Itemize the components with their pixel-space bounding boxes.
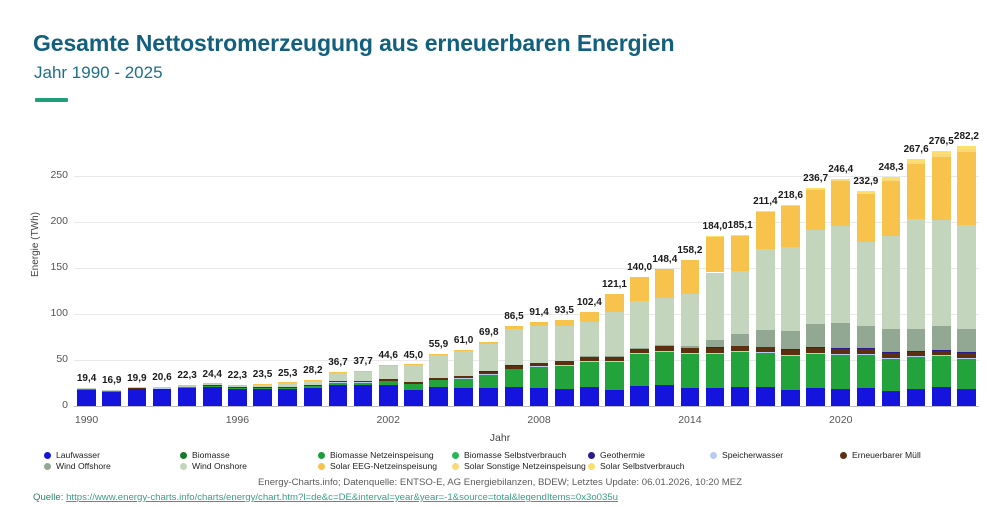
bar-segment — [304, 380, 323, 385]
bar-segment — [253, 384, 272, 385]
bar-segment — [153, 389, 172, 406]
bar-segment — [806, 324, 825, 347]
bar-segment — [655, 269, 674, 297]
bar-segment — [630, 354, 649, 386]
bar-segment — [429, 354, 448, 355]
bar-segment — [454, 388, 473, 406]
chart-bar[interactable] — [857, 191, 876, 406]
bar-segment — [882, 358, 901, 359]
x-axis-tick: 2020 — [821, 414, 861, 426]
bar-segment — [555, 389, 574, 406]
bar-segment — [253, 387, 272, 388]
bar-segment — [630, 277, 649, 301]
bar-segment — [781, 355, 800, 389]
bar-segment — [756, 353, 775, 388]
bar-segment — [479, 375, 498, 388]
page-title: Gesamte Nettostromerzeugung aus erneuerb… — [33, 30, 674, 57]
bar-segment — [831, 355, 850, 389]
bar-segment — [681, 294, 700, 347]
chart-bar[interactable] — [429, 355, 448, 407]
legend-swatch-icon — [318, 463, 325, 470]
bar-segment — [203, 386, 222, 387]
bar-segment — [404, 364, 423, 365]
bar-segment — [857, 354, 876, 355]
bar-segment — [681, 353, 700, 354]
chart-bar[interactable] — [454, 350, 473, 406]
bar-segment — [957, 149, 976, 152]
bar-segment — [253, 388, 272, 389]
chart-bar[interactable] — [253, 384, 272, 406]
chart-bar[interactable] — [102, 390, 121, 406]
chart-bar[interactable] — [681, 260, 700, 406]
bar-value-label: 45,0 — [395, 350, 432, 361]
bar-segment — [731, 352, 750, 387]
bar-segment — [932, 387, 951, 406]
bar-segment — [907, 356, 926, 357]
legend-item[interactable]: Speicherwasser — [710, 450, 783, 460]
legend-item[interactable]: Solar EEG-Netzeinspeisung — [318, 461, 437, 471]
bar-segment — [907, 329, 926, 351]
bar-segment — [655, 351, 674, 352]
bar-segment — [278, 387, 297, 388]
bar-segment — [505, 329, 524, 365]
bar-segment — [153, 388, 172, 389]
bar-segment — [681, 354, 700, 388]
legend-swatch-icon — [588, 463, 595, 470]
bar-segment — [781, 206, 800, 247]
bar-segment — [957, 389, 976, 406]
legend-swatch-icon — [452, 452, 459, 459]
bar-segment — [102, 390, 121, 391]
bar-segment — [329, 372, 348, 373]
bar-segment — [756, 211, 775, 212]
bar-segment — [882, 181, 901, 236]
bar-segment — [655, 298, 674, 345]
bar-segment — [505, 365, 524, 368]
legend-item[interactable]: Biomasse Selbstverbrauch — [452, 450, 566, 460]
legend-item-label: Laufwasser — [56, 450, 100, 460]
bar-segment — [354, 371, 373, 372]
bar-segment — [580, 322, 599, 356]
chart-bar[interactable] — [555, 320, 574, 406]
bar-segment — [379, 365, 398, 379]
bar-segment — [454, 376, 473, 378]
bar-segment — [756, 347, 775, 352]
bar-segment — [605, 356, 624, 357]
bar-segment — [957, 152, 976, 224]
bar-segment — [102, 391, 121, 392]
bar-segment — [731, 236, 750, 271]
bar-segment — [932, 151, 951, 154]
bar-value-label: 121,1 — [596, 279, 633, 290]
bar-segment — [228, 385, 247, 386]
legend-item-label: Solar Selbstverbrauch — [600, 461, 685, 471]
x-axis-tick: 1990 — [67, 414, 107, 426]
bar-segment — [907, 159, 926, 162]
bar-segment — [857, 242, 876, 326]
bar-segment — [404, 390, 423, 406]
bar-segment — [655, 346, 674, 351]
bar-segment — [128, 387, 147, 388]
bar-segment — [630, 353, 649, 354]
bar-segment — [756, 387, 775, 406]
y-axis-tick: 0 — [32, 399, 68, 411]
bar-segment — [228, 389, 247, 406]
bar-segment — [957, 358, 976, 359]
bar-segment — [907, 357, 926, 388]
bar-segment — [932, 154, 951, 156]
bar-segment — [806, 388, 825, 406]
bar-segment — [354, 381, 373, 382]
source-label: Quelle: — [33, 492, 63, 503]
bar-segment — [781, 349, 800, 354]
bar-segment — [278, 382, 297, 383]
bar-segment — [304, 380, 323, 381]
chart-bar[interactable] — [831, 179, 850, 406]
chart-bar[interactable] — [731, 235, 750, 406]
bar-segment — [530, 363, 549, 367]
bar-value-label: 248,3 — [873, 162, 910, 173]
bar-segment — [932, 157, 951, 221]
chart-bar[interactable] — [479, 342, 498, 406]
chart-bar[interactable] — [505, 326, 524, 406]
x-axis-tick: 2008 — [519, 414, 559, 426]
bar-segment — [957, 146, 976, 149]
bar-segment — [555, 326, 574, 361]
bar-segment — [957, 225, 976, 330]
bar-segment — [731, 235, 750, 236]
source-line: Quelle: https://www.energy-charts.info/c… — [33, 492, 618, 503]
bar-segment — [731, 351, 750, 352]
bar-segment — [278, 388, 297, 390]
bar-segment — [77, 388, 96, 389]
bar-segment — [479, 344, 498, 372]
bar-segment — [706, 347, 725, 352]
legend-swatch-icon — [588, 452, 595, 459]
bar-segment — [681, 388, 700, 406]
bar-segment — [932, 356, 951, 387]
bar-segment — [304, 385, 323, 386]
bar-segment — [882, 329, 901, 352]
legend-item[interactable]: Geothermie — [588, 450, 645, 460]
bar-segment — [102, 392, 121, 406]
bar-segment — [756, 212, 775, 249]
legend-item-label: Erneuerbarer Müll — [852, 450, 921, 460]
bar-value-label: 69,8 — [470, 327, 507, 338]
bar-segment — [278, 389, 297, 406]
bar-segment — [77, 389, 96, 390]
bar-segment — [379, 381, 398, 385]
bar-segment — [907, 162, 926, 164]
bar-segment — [706, 388, 725, 406]
chart-bar[interactable] — [530, 322, 549, 406]
legend-item[interactable]: Erneuerbarer Müll — [840, 450, 921, 460]
bar-segment — [555, 320, 574, 326]
y-axis-tick: 100 — [32, 307, 68, 319]
chart-bar[interactable] — [706, 236, 725, 406]
bar-segment — [781, 247, 800, 331]
bar-segment — [857, 349, 876, 354]
chart-bar[interactable] — [354, 371, 373, 406]
bar-segment — [404, 384, 423, 390]
chart-bar[interactable] — [957, 146, 976, 406]
bar-segment — [706, 340, 725, 348]
bar-value-label: 158,2 — [672, 245, 709, 256]
chart-bar[interactable] — [756, 211, 775, 406]
bar-segment — [706, 273, 725, 340]
chart-bar[interactable] — [806, 188, 825, 406]
bar-segment — [505, 387, 524, 406]
bar-segment — [454, 351, 473, 376]
legend-item[interactable]: Solar Selbstverbrauch — [588, 461, 685, 471]
bar-segment — [580, 356, 599, 360]
bar-segment — [178, 385, 197, 386]
chart-bar[interactable] — [128, 388, 147, 406]
bar-segment — [630, 301, 649, 348]
chart-bar[interactable] — [580, 312, 599, 406]
chart-bar[interactable] — [882, 177, 901, 406]
bar-segment — [882, 353, 901, 358]
bar-segment — [806, 353, 825, 354]
bar-segment — [329, 385, 348, 406]
chart-bar[interactable] — [907, 159, 926, 406]
legend-item[interactable]: Biomasse Netzeinspeisung — [318, 450, 434, 460]
bar-segment — [907, 389, 926, 406]
bar-value-label: 282,2 — [948, 131, 985, 142]
bar-segment — [178, 386, 197, 387]
bar-segment — [454, 350, 473, 351]
bar-segment — [605, 294, 624, 312]
bar-segment — [706, 353, 725, 354]
bar-value-label: 218,6 — [772, 190, 809, 201]
chart-bar[interactable] — [329, 372, 348, 406]
bar-segment — [379, 365, 398, 366]
chart-bar[interactable] — [77, 388, 96, 406]
chart-bar[interactable] — [655, 269, 674, 406]
bar-segment — [203, 384, 222, 385]
bar-segment — [178, 387, 197, 388]
bar-segment — [253, 389, 272, 406]
legend-item-label: Biomasse Netzeinspeisung — [330, 450, 434, 460]
bar-segment — [505, 326, 524, 329]
bar-segment — [329, 372, 348, 381]
chart-bar[interactable] — [630, 277, 649, 406]
bar-segment — [831, 389, 850, 406]
bar-segment — [731, 271, 750, 334]
chart-bar[interactable] — [605, 294, 624, 406]
bar-segment — [429, 378, 448, 380]
legend-item[interactable]: Solar Sonstige Netzeinspeisung — [452, 461, 586, 471]
bar-segment — [957, 329, 976, 352]
bar-segment — [957, 353, 976, 358]
y-axis-tick: 200 — [32, 215, 68, 227]
legend-swatch-icon — [44, 463, 51, 470]
chart-bar[interactable] — [153, 387, 172, 406]
legend-swatch-icon — [44, 452, 51, 459]
bar-segment — [203, 387, 222, 406]
bar-segment — [681, 346, 700, 347]
legend-item-label: Solar Sonstige Netzeinspeisung — [464, 461, 586, 471]
legend-item-label: Solar EEG-Netzeinspeisung — [330, 461, 437, 471]
legend-item-label: Biomasse — [192, 450, 230, 460]
bar-segment — [354, 382, 373, 385]
bar-segment — [304, 388, 323, 406]
chart-bar[interactable] — [781, 205, 800, 406]
bar-segment — [304, 386, 323, 388]
bar-segment — [831, 349, 850, 354]
x-axis-line — [74, 406, 979, 407]
bar-segment — [882, 391, 901, 406]
bar-segment — [128, 388, 147, 389]
legend-swatch-icon — [180, 463, 187, 470]
legend-item-label: Speicherwasser — [722, 450, 783, 460]
legend-item-label: Wind Onshore — [192, 461, 247, 471]
chart-bar[interactable] — [932, 151, 951, 406]
bar-segment — [857, 355, 876, 388]
bar-segment — [857, 388, 876, 406]
bar-segment — [781, 355, 800, 356]
bar-segment — [630, 348, 649, 353]
bar-segment — [681, 348, 700, 353]
legend-item[interactable]: Laufwasser — [44, 450, 100, 460]
bar-segment — [404, 382, 423, 384]
bar-segment — [530, 388, 549, 407]
bar-segment — [555, 365, 574, 388]
chart-bar[interactable] — [228, 385, 247, 406]
bar-segment — [479, 388, 498, 406]
bar-segment — [429, 380, 448, 387]
bar-segment — [228, 386, 247, 388]
bar-segment — [882, 180, 901, 181]
bar-segment — [806, 354, 825, 388]
bar-segment — [605, 357, 624, 361]
bar-segment — [806, 188, 825, 189]
bar-segment — [530, 367, 549, 388]
bar-segment — [605, 390, 624, 406]
legend-swatch-icon — [180, 452, 187, 459]
bar-segment — [781, 390, 800, 406]
bar-segment — [228, 388, 247, 389]
bar-segment — [756, 352, 775, 353]
legend-swatch-icon — [710, 452, 717, 459]
bar-segment — [404, 365, 423, 382]
legend-item[interactable]: Biomasse — [180, 450, 230, 460]
x-axis-tick: 1996 — [217, 414, 257, 426]
bar-value-label: 246,4 — [822, 164, 859, 175]
bar-segment — [731, 346, 750, 351]
bar-segment — [354, 371, 373, 380]
bar-segment — [329, 381, 348, 382]
bar-segment — [831, 323, 850, 348]
legend-item[interactable]: Wind Offshore — [44, 461, 111, 471]
bar-segment — [706, 237, 725, 273]
bar-segment — [580, 387, 599, 406]
legend-item-label: Geothermie — [600, 450, 645, 460]
chart-bar[interactable] — [178, 385, 197, 406]
chart-bar[interactable] — [203, 384, 222, 406]
bar-segment — [882, 236, 901, 329]
source-link[interactable]: https://www.energy-charts.info/charts/en… — [66, 492, 618, 503]
bar-segment — [655, 345, 674, 346]
bar-segment — [580, 312, 599, 323]
bar-segment — [882, 359, 901, 391]
bar-segment — [278, 383, 297, 387]
bar-segment — [354, 385, 373, 406]
legend-item-label: Wind Offshore — [56, 461, 111, 471]
gridline — [74, 176, 979, 177]
bar-segment — [857, 191, 876, 193]
bar-segment — [505, 369, 524, 387]
bar-segment — [630, 386, 649, 406]
bar-segment — [329, 383, 348, 386]
x-axis-label: Jahr — [0, 432, 1000, 444]
bar-segment — [253, 384, 272, 387]
bar-segment — [781, 331, 800, 349]
bar-segment — [831, 354, 850, 355]
chart-plot-area: 05010015020025019,416,919,920,622,324,42… — [74, 148, 979, 406]
bar-segment — [580, 361, 599, 387]
chart-bar[interactable] — [379, 365, 398, 406]
bar-segment — [655, 385, 674, 406]
bar-segment — [932, 355, 951, 356]
bar-segment — [555, 361, 574, 365]
bar-segment — [932, 326, 951, 350]
x-axis-tick: 2014 — [670, 414, 710, 426]
bar-segment — [153, 387, 172, 388]
bar-segment — [681, 260, 700, 293]
bar-segment — [907, 164, 926, 219]
bar-value-label: 185,1 — [722, 220, 759, 231]
bar-segment — [77, 389, 96, 406]
legend-item-label: Biomasse Selbstverbrauch — [464, 450, 566, 460]
bar-segment — [781, 205, 800, 206]
bar-segment — [756, 249, 775, 331]
chart-bar[interactable] — [304, 380, 323, 406]
bar-segment — [429, 387, 448, 406]
bar-segment — [907, 351, 926, 356]
chart-bar[interactable] — [278, 383, 297, 406]
bar-segment — [530, 322, 549, 326]
bar-segment — [857, 326, 876, 349]
bar-segment — [907, 219, 926, 329]
bar-segment — [806, 347, 825, 352]
x-axis-tick: 2002 — [368, 414, 408, 426]
bar-segment — [831, 226, 850, 323]
bar-segment — [806, 230, 825, 324]
bar-segment — [731, 387, 750, 406]
bar-segment — [605, 361, 624, 390]
bar-segment — [731, 334, 750, 345]
bar-segment — [630, 348, 649, 349]
chart-legend: LaufwasserWind OffshoreBiomasseWind Onsh… — [0, 450, 1000, 476]
bar-value-label: 102,4 — [571, 297, 608, 308]
bar-segment — [932, 350, 951, 355]
bar-segment — [655, 352, 674, 385]
bar-segment — [857, 194, 876, 241]
bar-segment — [882, 177, 901, 180]
bar-segment — [178, 388, 197, 406]
legend-swatch-icon — [318, 452, 325, 459]
accent-rule — [35, 98, 68, 102]
bar-segment — [756, 330, 775, 346]
y-axis-tick: 50 — [32, 353, 68, 365]
y-axis-tick: 250 — [32, 169, 68, 181]
bar-segment — [530, 326, 549, 363]
bar-segment — [605, 312, 624, 356]
legend-item[interactable]: Wind Onshore — [180, 461, 247, 471]
bar-segment — [706, 236, 725, 237]
chart-bar[interactable] — [404, 365, 423, 406]
